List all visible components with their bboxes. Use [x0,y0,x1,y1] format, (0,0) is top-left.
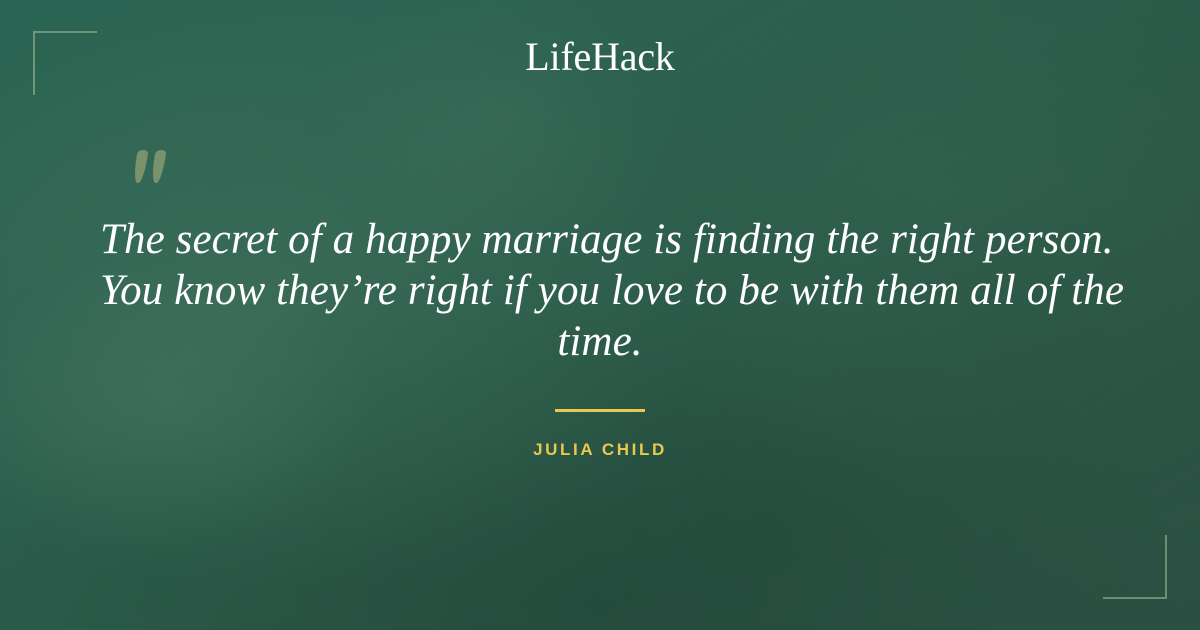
quote-line-3: time. [100,316,1100,367]
double-quote-icon [133,150,173,190]
quote-line-1: The secret of a happy marriage is findin… [100,214,1100,265]
quote-tick-right [150,150,166,183]
brand-logo: LifeHack [0,37,1200,77]
corner-bracket-bottom-right-icon [1103,535,1167,599]
attribution-divider [555,409,645,412]
quote-card: LifeHack The secret of a happy marriage … [0,0,1200,630]
quote-line-2: You know they’re right if you love to be… [100,265,1100,316]
quote-tick-left [132,150,148,183]
quote-author: JULIA CHILD [0,440,1200,460]
quote-text: The secret of a happy marriage is findin… [100,214,1100,367]
